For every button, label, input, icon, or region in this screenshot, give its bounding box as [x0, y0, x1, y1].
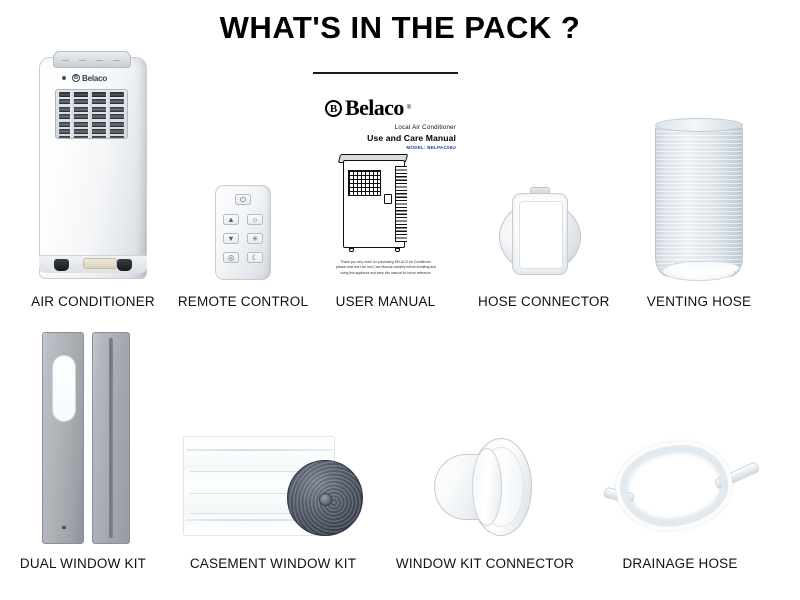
- caption-hose-connector: HOSE CONNECTOR: [478, 294, 602, 309]
- hose-connector-image: [490, 185, 590, 285]
- air-conditioner-image: B Belaco: [31, 45, 156, 285]
- ac-brand-mark: B: [72, 74, 80, 82]
- window-panel-with-opening: [42, 332, 84, 544]
- velcro-tape-roll: [287, 460, 363, 536]
- pack-item-venting-hose: VENTING HOSE: [640, 118, 758, 315]
- ac-vent-grille: [55, 89, 128, 139]
- caption-drainage-hose: DRAINAGE HOSE: [602, 556, 758, 571]
- manual-footer-text: Thank you very much for purchasing BELAC…: [336, 260, 436, 276]
- remote-power-button: ⏻: [235, 194, 251, 205]
- manual-brand-mark: B: [325, 100, 342, 117]
- down-arrow-icon: ▼: [227, 235, 234, 243]
- power-icon: ⏻: [240, 196, 246, 204]
- manual-cover: B Belaco ® Local Air Conditioner Use and…: [303, 68, 468, 283]
- ac-base: [39, 255, 147, 273]
- ac-brand-logo: B Belaco: [62, 73, 124, 83]
- ac-caster-right: [117, 259, 132, 271]
- venting-hose-bottom-rim: [662, 261, 736, 281]
- remote-temp-up-button: ▲: [223, 214, 239, 225]
- pack-item-remote-control: ⏻ ▲ ○ ▼ ✳ ◎ ☾ REMOTE CONTROL: [175, 185, 311, 315]
- ac-drain-port: [83, 258, 117, 269]
- manual-top-rule: [313, 72, 458, 74]
- remote-mode-button: ◎: [223, 252, 239, 263]
- casement-window-kit-image: [183, 428, 363, 546]
- dual-window-kit-image: [28, 332, 138, 547]
- page-title: WHAT'S IN THE PACK ?: [0, 10, 800, 46]
- pack-item-drainage-hose: DRAINAGE HOSE: [602, 432, 758, 577]
- manual-brand-logo: B Belaco ®: [325, 95, 411, 121]
- drainage-hose-highlight: [610, 434, 737, 537]
- caption-dual-window-kit: DUAL WINDOW KIT: [10, 556, 156, 571]
- manual-brand-name: Belaco: [345, 95, 404, 121]
- pack-item-user-manual: B Belaco ® Local Air Conditioner Use and…: [303, 68, 468, 315]
- manual-title: Use and Care Manual: [367, 133, 456, 143]
- manual-product-line: Local Air Conditioner: [395, 124, 456, 131]
- window-panel-screw: [62, 526, 66, 530]
- venting-hose-opening: [683, 262, 739, 274]
- mode-icon: ◎: [228, 254, 235, 262]
- window-panel-oval-opening: [52, 355, 76, 422]
- registered-icon: ®: [407, 105, 411, 111]
- pack-item-dual-window-kit: DUAL WINDOW KIT: [10, 332, 156, 577]
- up-arrow-icon: ▲: [227, 216, 234, 224]
- ac-control-panel: [53, 51, 131, 68]
- window-kit-connector-image: [430, 432, 540, 542]
- window-panel-extension: [92, 332, 130, 544]
- remote-cool-mode-button: ✳: [247, 233, 263, 244]
- ac-brand-name: Belaco: [82, 74, 107, 83]
- user-manual-image: B Belaco ® Local Air Conditioner Use and…: [303, 68, 468, 283]
- venting-hose-image: [651, 118, 747, 283]
- venting-hose-tube: [655, 122, 743, 277]
- caption-venting-hose: VENTING HOSE: [640, 294, 758, 309]
- caption-user-manual: USER MANUAL: [303, 294, 468, 309]
- manual-product-illustration: [339, 154, 411, 250]
- manual-model-number: MODEL: BELPAC06U: [406, 145, 456, 150]
- drainage-hose-image: [602, 432, 762, 542]
- moon-icon: ☾: [252, 254, 259, 262]
- velcro-roll-core: [319, 493, 332, 506]
- fan-icon: ○: [253, 216, 258, 224]
- caption-remote-control: REMOTE CONTROL: [175, 294, 311, 309]
- caption-casement-window-kit: CASEMENT WINDOW KIT: [178, 556, 368, 571]
- remote-control-image: ⏻ ▲ ○ ▼ ✳ ◎ ☾: [208, 185, 278, 280]
- hose-connector-opening: [519, 201, 563, 269]
- window-panel-seam: [109, 338, 113, 538]
- pack-item-casement-window-kit: CASEMENT WINDOW KIT: [178, 428, 368, 577]
- remote-temp-down-button: ▼: [223, 233, 239, 244]
- whats-in-the-pack-page: WHAT'S IN THE PACK ? B Belaco: [0, 0, 800, 600]
- pack-item-hose-connector: HOSE CONNECTOR: [478, 185, 602, 315]
- remote-sleep-timer-button: ☾: [247, 252, 263, 263]
- caption-air-conditioner: AIR CONDITIONER: [18, 294, 168, 309]
- ac-caster-left: [54, 259, 69, 271]
- connector-oval-lip: [472, 448, 502, 526]
- venting-hose-top-rim: [655, 118, 743, 132]
- hose-connector-plate: [512, 193, 568, 275]
- pack-item-air-conditioner: B Belaco: [18, 45, 168, 315]
- snowflake-icon: ✳: [252, 235, 258, 243]
- caption-window-kit-connector: WINDOW KIT CONNECTOR: [390, 556, 580, 571]
- pack-item-window-kit-connector: WINDOW KIT CONNECTOR: [390, 432, 580, 577]
- remote-fan-speed-button: ○: [247, 214, 263, 225]
